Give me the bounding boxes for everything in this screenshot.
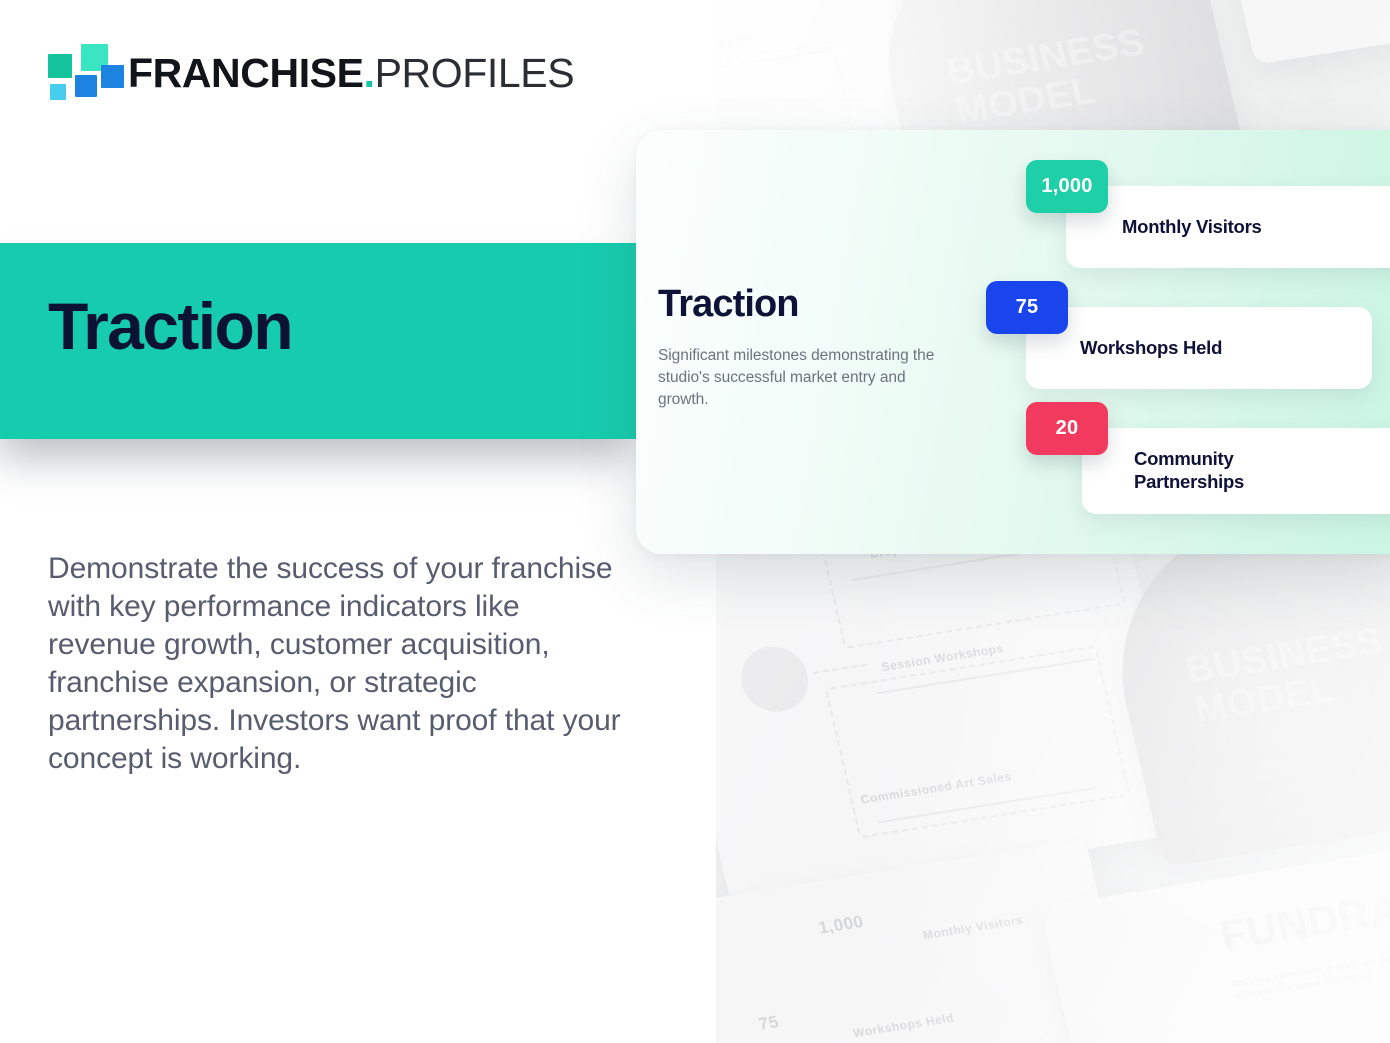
collage-subtext: Revenue generation through diverse strea… — [1208, 731, 1390, 804]
donut-chart-icon — [1328, 1015, 1390, 1043]
metric-value-badge: 1,000 — [1026, 160, 1108, 213]
collage-heading: BUSINESS MODEL — [1182, 621, 1390, 731]
metric-item-monthly-visitors[interactable]: Monthly Visitors 1,000 — [994, 160, 1390, 268]
metric-label: Monthly Visitors — [1122, 216, 1262, 239]
collage-label: Workshops Held — [851, 1010, 955, 1042]
brand-wordmark: FRANCHISE.PROFILES — [128, 53, 574, 94]
collage-heading: BUSINESS MODEL — [943, 22, 1157, 132]
section-title-banner: Traction — [0, 243, 640, 439]
metric-card: Community Partnerships — [1082, 428, 1390, 514]
traction-preview-panel: Traction Significant milestones demonstr… — [636, 130, 1390, 554]
metric-value-badge: 20 — [1026, 402, 1108, 455]
metric-label: Community Partnerships — [1134, 448, 1244, 493]
brand-name-light: PROFILES — [375, 50, 575, 96]
panel-text-block: Traction Significant milestones demonstr… — [658, 285, 988, 411]
metric-card: Monthly Visitors — [1066, 186, 1390, 268]
logo-squares-icon — [48, 44, 110, 102]
dashed-connector — [813, 664, 867, 674]
dashed-box — [825, 645, 1131, 838]
currency-icon — [734, 642, 814, 717]
panel-subtitle: Significant milestones demonstrating the… — [658, 345, 958, 411]
collage-value: 75 — [756, 1011, 781, 1036]
metric-value-badge: 75 — [986, 281, 1068, 334]
panel-title: Traction — [658, 285, 988, 323]
background-left-fade — [0, 0, 60, 1043]
brand-logo[interactable]: FRANCHISE.PROFILES — [48, 44, 574, 102]
brand-name-bold: FRANCHISE — [128, 50, 364, 96]
slide-canvas: Drop-In Fees Session Workshops Commissio… — [0, 0, 1390, 1043]
metric-list: Monthly Visitors 1,000 Workshops Held 75… — [994, 130, 1390, 554]
metric-card: Workshops Held — [1026, 307, 1372, 389]
section-description: Demonstrate the success of your franchis… — [48, 550, 628, 779]
metric-item-community-partnerships[interactable]: Community Partnerships 20 — [994, 402, 1390, 510]
page-title: Traction — [48, 293, 292, 359]
collage-value: 1,000 — [816, 911, 866, 940]
metric-item-workshops-held[interactable]: Workshops Held 75 — [994, 281, 1390, 389]
collage-label: Monthly Visitors — [921, 912, 1025, 944]
dashed-box — [716, 0, 851, 23]
metric-label: Workshops Held — [1080, 337, 1222, 360]
brand-name-dot: . — [364, 50, 375, 96]
collage-heading: FUNDRAISING — [1216, 869, 1390, 959]
